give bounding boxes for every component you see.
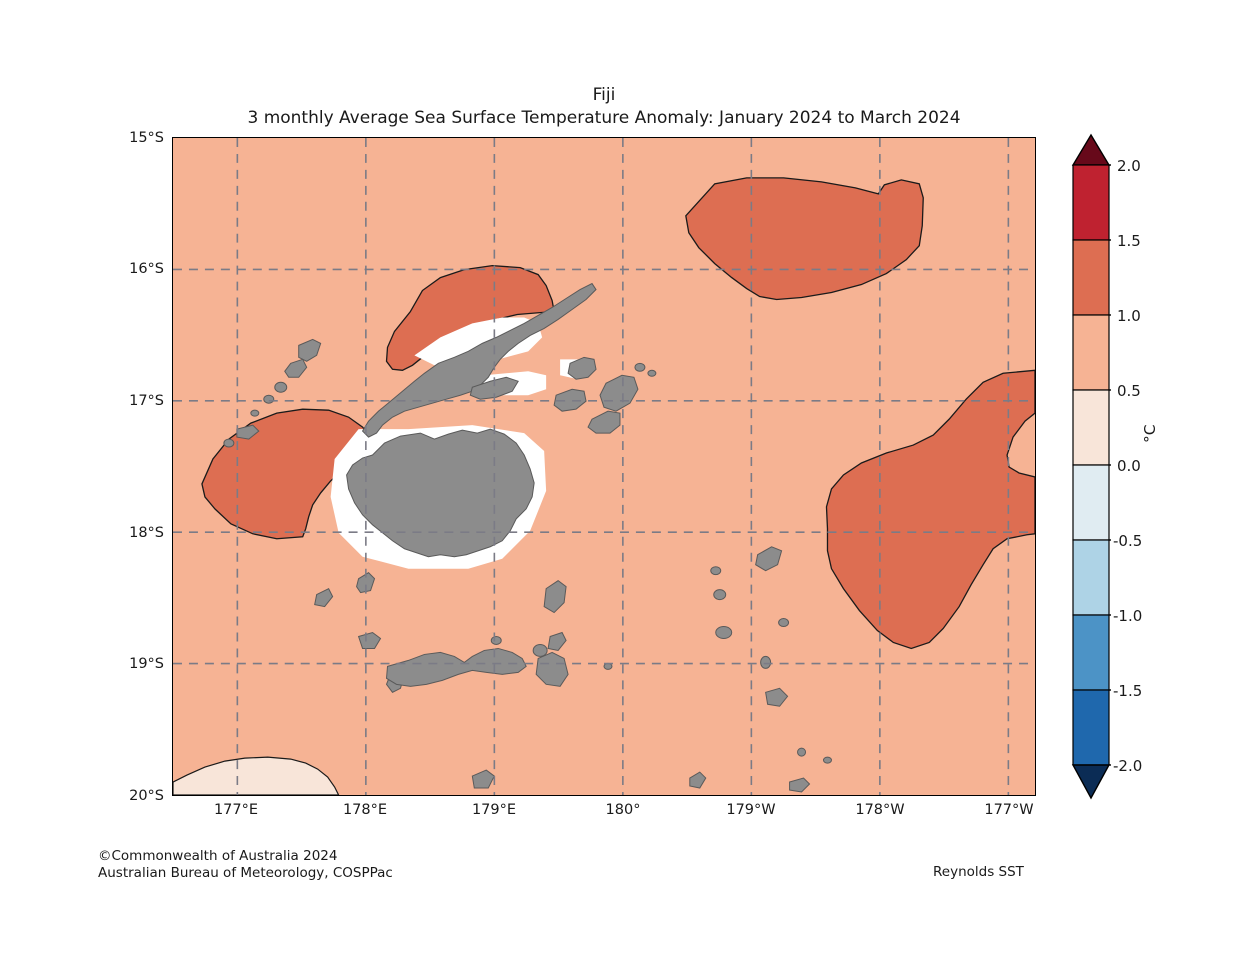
colorbar-tick-1: 1.5 [1117,232,1141,250]
data-source-label: Reynolds SST [933,864,1024,880]
colorbar-tick-4: 0.0 [1117,457,1141,475]
ytick-label-5: 20°S [104,788,164,804]
xtick-label-0: 177°E [191,802,281,818]
xtick-label-1: 178°E [320,802,410,818]
chart-subtitle: 3 monthly Average Sea Surface Temperatur… [172,106,1036,130]
figure-canvas: Fiji 3 monthly Average Sea Surface Tempe… [0,0,1258,980]
xtick-label-5: 178°W [835,802,925,818]
ytick-label-2: 17°S [104,393,164,409]
colorbar-tick-2: 1.0 [1117,307,1141,325]
page-title: Fiji [172,84,1036,106]
colorbar-unit-label: °C [1141,424,1159,443]
colorbar-extend-min [1073,765,1109,798]
xtick-label-6: 177°W [964,802,1054,818]
colorbar-tick-0: 2.0 [1117,157,1141,175]
sst-anomaly-map [173,138,1035,795]
colorbar-tick-5: -0.5 [1113,532,1142,550]
ytick-label-0: 15°S [104,130,164,146]
ytick-label-4: 19°S [104,656,164,672]
map-plot-area[interactable] [172,137,1036,796]
colorbar-tick-3: 0.5 [1117,382,1141,400]
chart-title-block: Fiji 3 monthly Average Sea Surface Tempe… [172,84,1036,130]
colorbar-swatches [1071,133,1111,800]
copyright-text: ©Commonwealth of Australia 2024 Australi… [98,848,393,882]
ytick-label-3: 18°S [104,525,164,541]
colorbar[interactable] [1071,133,1111,800]
colorbar-tick-6: -1.0 [1113,607,1142,625]
colorbar-tick-7: -1.5 [1113,682,1142,700]
xtick-label-3: 180° [578,802,668,818]
colorbar-tick-8: -2.0 [1113,757,1142,775]
xtick-label-2: 179°E [449,802,539,818]
ytick-label-1: 16°S [104,261,164,277]
xtick-label-4: 179°W [706,802,796,818]
colorbar-extend-max [1073,135,1109,165]
